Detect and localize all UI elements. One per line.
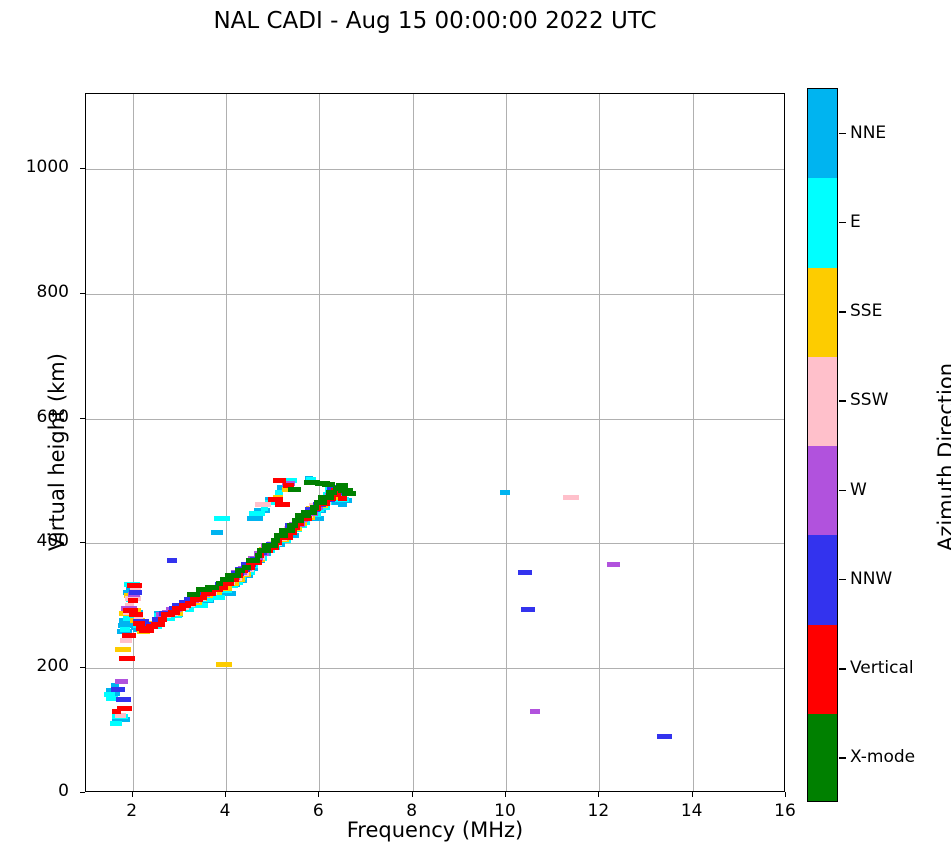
- gridline-horizontal: [86, 294, 784, 295]
- data-point: [657, 734, 672, 739]
- data-point: [338, 496, 347, 501]
- data-point: [563, 495, 579, 500]
- data-point: [111, 687, 125, 692]
- colorbar-tick: [839, 757, 846, 759]
- data-point: [129, 590, 142, 595]
- data-point: [247, 516, 263, 521]
- colorbar-segment-nne[interactable]: [808, 89, 837, 178]
- data-point: [255, 502, 271, 507]
- gridline-horizontal: [86, 668, 784, 669]
- data-point: [122, 633, 135, 638]
- y-axis-tick: [80, 792, 85, 793]
- x-axis-tick: [598, 792, 599, 797]
- colorbar-label-w: W: [850, 480, 867, 500]
- data-point: [288, 487, 301, 492]
- gridline-vertical: [133, 94, 134, 791]
- x-axis-label: Frequency (MHz): [85, 818, 785, 842]
- data-point: [500, 490, 509, 495]
- gridline-vertical: [226, 94, 227, 791]
- data-point: [287, 523, 298, 528]
- gridline-vertical: [599, 94, 600, 791]
- gridline-vertical: [413, 94, 414, 791]
- data-point: [279, 528, 295, 533]
- data-point: [120, 627, 130, 632]
- colorbar-label-nne: NNE: [850, 123, 886, 143]
- colorbar-tick: [839, 133, 846, 135]
- x-axis-tick: [318, 792, 319, 797]
- colorbar-label-ssw: SSW: [850, 390, 888, 410]
- gridline-horizontal: [86, 419, 784, 420]
- data-point: [127, 583, 142, 588]
- data-point: [310, 505, 319, 510]
- colorbar-tick: [839, 490, 846, 492]
- colorbar-label-vertical: Vertical: [850, 658, 914, 678]
- ionogram-figure: NAL CADI - Aug 15 00:00:00 2022 UTC 2468…: [0, 0, 951, 856]
- data-point: [158, 617, 167, 622]
- x-axis-tick: [225, 792, 226, 797]
- gridline-vertical: [319, 94, 320, 791]
- data-point: [119, 656, 135, 661]
- colorbar-label-sse: SSE: [850, 301, 882, 321]
- data-point: [521, 607, 535, 612]
- data-point: [314, 500, 327, 505]
- gridline-horizontal: [86, 169, 784, 170]
- colorbar-segment-sse[interactable]: [808, 268, 837, 357]
- y-axis-tick: [80, 293, 85, 294]
- data-point: [257, 548, 271, 553]
- x-axis-tick: [412, 792, 413, 797]
- data-point: [115, 647, 131, 652]
- x-axis-tick: [692, 792, 693, 797]
- colorbar-segment-nnw[interactable]: [808, 535, 837, 624]
- y-axis-tick: [80, 667, 85, 668]
- data-point: [110, 721, 122, 726]
- data-point: [262, 543, 277, 548]
- colorbar-segment-e[interactable]: [808, 178, 837, 267]
- gridline-vertical: [506, 94, 507, 791]
- data-point: [225, 573, 241, 578]
- data-point: [216, 662, 232, 667]
- data-point: [115, 679, 128, 684]
- data-point: [116, 697, 131, 702]
- colorbar-segment-w[interactable]: [808, 446, 837, 535]
- colorbar-tick: [839, 311, 846, 313]
- data-point: [211, 530, 223, 535]
- data-point: [214, 516, 230, 521]
- data-point: [275, 502, 290, 507]
- colorbar-segment-vertical[interactable]: [808, 625, 837, 714]
- data-point: [322, 482, 335, 487]
- data-point: [246, 558, 261, 563]
- colorbar-label-x-mode: X-mode: [850, 747, 915, 767]
- x-axis-tick: [505, 792, 506, 797]
- data-point: [242, 565, 251, 570]
- colorbar-segment-x-mode[interactable]: [808, 714, 837, 802]
- y-axis-tick: [80, 542, 85, 543]
- y-axis-tick: [80, 168, 85, 169]
- y-axis-label: Virtual height (km): [45, 302, 69, 602]
- gridline-horizontal: [86, 543, 784, 544]
- colorbar-tick: [839, 668, 846, 670]
- colorbar-label-nnw: NNW: [850, 569, 892, 589]
- plot-area: [85, 93, 785, 792]
- page-title: NAL CADI - Aug 15 00:00:00 2022 UTC: [0, 8, 870, 34]
- colorbar-title: Azimuth Direction: [934, 297, 951, 617]
- data-point: [301, 510, 316, 515]
- colorbar-tick: [839, 222, 846, 224]
- colorbar-label-e: E: [850, 212, 861, 232]
- data-point: [128, 598, 138, 603]
- y-axis-tick-label: 200: [9, 656, 69, 676]
- data-point: [271, 538, 280, 543]
- data-point: [607, 562, 620, 567]
- y-axis-tick: [80, 418, 85, 419]
- data-point: [249, 511, 265, 516]
- data-point: [518, 570, 532, 575]
- data-point: [318, 495, 334, 500]
- data-point: [151, 622, 165, 627]
- y-axis-tick-label: 800: [9, 282, 69, 302]
- colorbar-tick: [839, 579, 846, 581]
- data-point: [120, 638, 132, 643]
- data-point: [292, 518, 304, 523]
- data-point: [167, 558, 177, 563]
- colorbar[interactable]: [807, 88, 838, 802]
- data-point: [342, 491, 357, 496]
- data-point: [129, 612, 143, 617]
- x-axis-tick: [132, 792, 133, 797]
- x-axis-tick: [785, 792, 786, 797]
- data-point: [187, 592, 200, 597]
- data-point: [117, 706, 132, 711]
- y-axis-tick-label: 1000: [9, 157, 69, 177]
- data-point: [255, 553, 262, 558]
- gridline-vertical: [693, 94, 694, 791]
- colorbar-tick: [839, 400, 846, 402]
- data-point: [530, 709, 541, 714]
- colorbar-segment-ssw[interactable]: [808, 357, 837, 446]
- y-axis-tick-label: 0: [9, 781, 69, 801]
- data-point: [274, 533, 287, 538]
